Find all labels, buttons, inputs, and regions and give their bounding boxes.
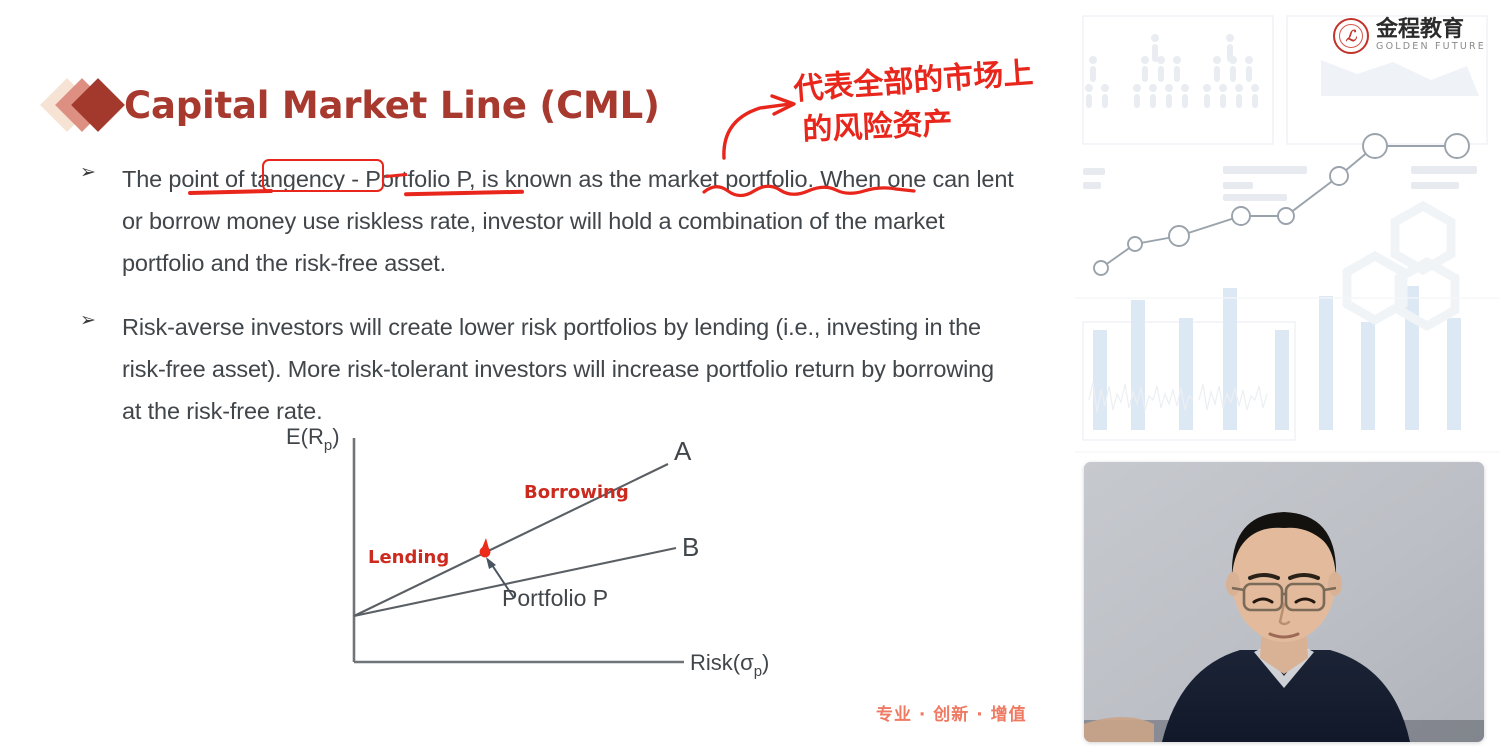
footer-tagline: 专业 · 创新 · 增值 [876, 700, 1027, 725]
chart-label-a: A [674, 436, 692, 466]
presentation-screen: Capital Market Line (CML) ➢ The point of… [0, 0, 1500, 750]
handwriting-line-2: 的风险资产 [802, 99, 1038, 153]
bullet-text-2: Risk-averse investors will create lower … [122, 314, 994, 424]
y-label-sub: p [324, 437, 332, 454]
cml-chart: E(Rp) Risk(σp) A B Borrowing Lending Por… [276, 420, 796, 685]
y-label-base: E(R [286, 424, 324, 449]
y-label-close: ) [332, 424, 339, 449]
right-side-panel: ℒ 金程教育 GOLDEN FUTURE [1075, 0, 1500, 750]
list-item: ➢ The point of tangency - Portfolio P, i… [76, 158, 1016, 284]
chart-annotation-lending: Lending [368, 547, 449, 568]
seal-icon: ℒ [1333, 18, 1369, 54]
brand-name-en: GOLDEN FUTURE [1376, 41, 1486, 53]
x-label-base: Risk(σ [690, 650, 754, 675]
list-item: ➢ Risk-averse investors will create lowe… [76, 306, 1016, 432]
arrow-bullet-icon: ➢ [80, 159, 96, 187]
diamond-bullet-decoration [48, 76, 124, 134]
chart-annotation-portfolio-p: Portfolio P [502, 585, 608, 611]
background-infographic-art [1075, 0, 1500, 455]
handwritten-annotation: 代表全部的市场上 的风险资产 [792, 52, 1038, 157]
brand-name-cn: 金程教育 [1376, 19, 1486, 41]
instructor-webcam-video[interactable] [1084, 462, 1484, 742]
slide-content-area: Capital Market Line (CML) ➢ The point of… [0, 0, 1075, 750]
brand-text: 金程教育 GOLDEN FUTURE [1376, 19, 1486, 53]
slide-title-row: Capital Market Line (CML) [48, 76, 660, 134]
brand-logo: ℒ 金程教育 GOLDEN FUTURE [1333, 18, 1486, 54]
seal-letter: ℒ [1339, 24, 1363, 48]
chart-annotation-borrowing: Borrowing [524, 482, 629, 503]
chart-label-b: B [682, 532, 699, 562]
webcam-frame [1084, 462, 1484, 742]
chart-point-portfolio-p-ink [482, 538, 489, 549]
x-label-sub: p [754, 663, 762, 680]
chart-y-axis-label: E(Rp) [286, 424, 340, 454]
bullet-text-1: The point of tangency - Portfolio P, is … [122, 166, 1014, 276]
page-title: Capital Market Line (CML) [124, 84, 660, 127]
chart-x-axis-label: Risk(σp) [690, 650, 769, 680]
x-label-close: ) [762, 650, 769, 675]
bullet-list: ➢ The point of tangency - Portfolio P, i… [76, 158, 1016, 454]
arrow-bullet-icon: ➢ [80, 307, 96, 335]
